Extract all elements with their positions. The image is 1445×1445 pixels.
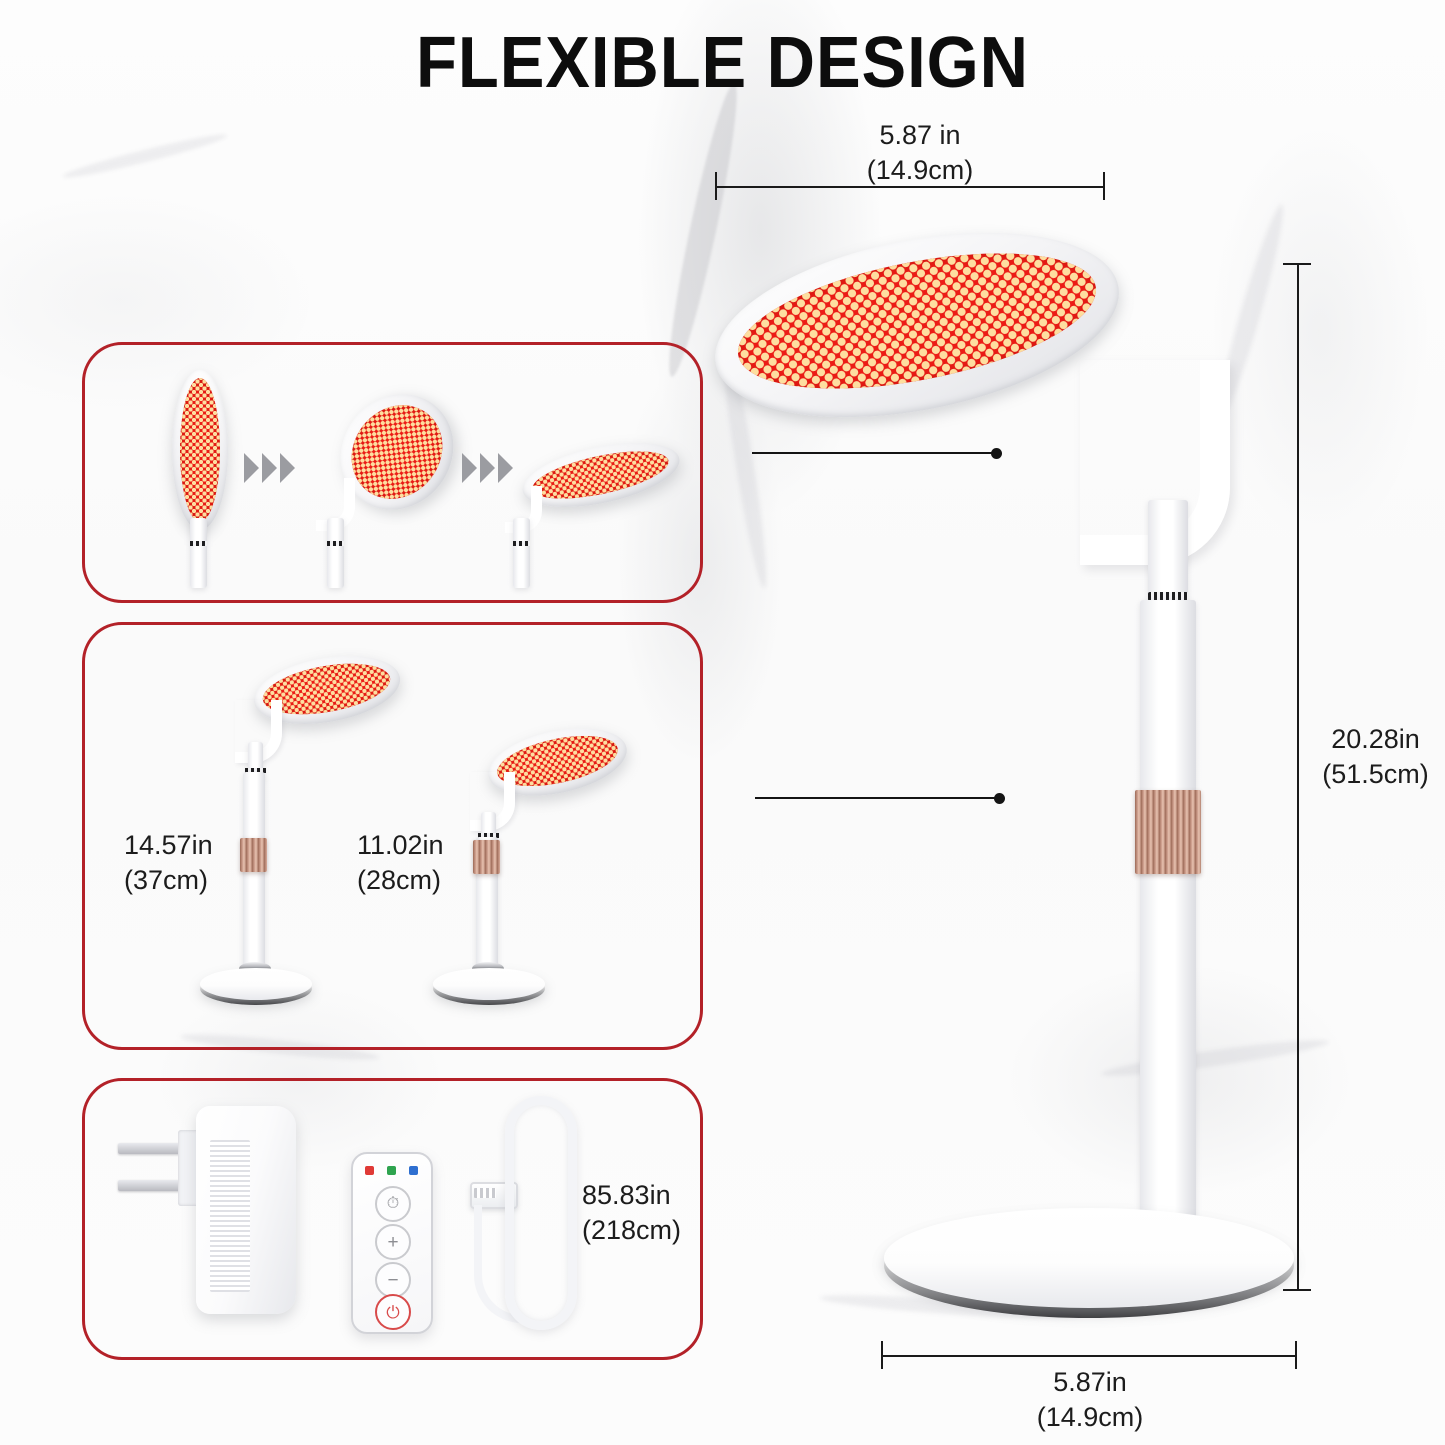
- lamp-base: [433, 968, 545, 1000]
- power-button[interactable]: ⏻: [375, 1294, 411, 1330]
- blue-led: [409, 1166, 418, 1175]
- cable-length-inches: 85.83in: [582, 1178, 752, 1213]
- timer-icon: ⏱: [387, 1196, 399, 1212]
- remote-control[interactable]: ⏱ + − ⏻: [351, 1152, 433, 1334]
- lamp-pole: [327, 518, 344, 588]
- cable-length-dimension: 85.83in (218cm): [582, 1178, 752, 1247]
- cable-length-cm: (218cm): [582, 1213, 752, 1248]
- decrease-button[interactable]: −: [375, 1262, 411, 1298]
- height-short-dimension: 11.02in (28cm): [357, 828, 517, 897]
- usb-coiled-cord: [505, 1096, 577, 1330]
- lamp-pole: [190, 518, 207, 588]
- height-adjust-collar: [1135, 790, 1201, 874]
- lamp-segment-marks: [327, 541, 344, 546]
- height-tall-inches: 14.57in: [124, 828, 284, 863]
- minus-icon: −: [387, 1271, 398, 1290]
- increase-button[interactable]: +: [375, 1224, 411, 1260]
- lamp-head-led-panel: [180, 378, 220, 522]
- usb-connector-tip: [474, 1188, 496, 1198]
- led-dot-array: [180, 378, 220, 522]
- adapter-vents: [210, 1140, 250, 1292]
- chevron-right-icon: [244, 453, 259, 483]
- chevron-right-icon: [480, 453, 495, 483]
- lamp-segment-marks: [513, 541, 530, 546]
- lamp-base: [200, 968, 312, 1000]
- lamp-main-pole: [1140, 600, 1196, 1240]
- lamp-upper-pole: [1148, 500, 1188, 602]
- timer-button[interactable]: ⏱: [375, 1186, 411, 1222]
- power-icon: ⏻: [386, 1304, 399, 1321]
- chevron-right-icon: [280, 453, 295, 483]
- height-short-inches: 11.02in: [357, 828, 517, 863]
- plus-icon: +: [387, 1233, 398, 1252]
- height-tall-dimension: 14.57in (37cm): [124, 828, 284, 897]
- lamp-pole: [513, 518, 530, 588]
- lamp-segment-marks: [190, 541, 207, 546]
- green-led: [387, 1166, 396, 1175]
- height-tall-cm: (37cm): [124, 863, 284, 898]
- lamp-base: [884, 1208, 1294, 1308]
- red-led: [365, 1166, 374, 1175]
- chevron-right-icon: [262, 453, 277, 483]
- chevron-right-icon: [498, 453, 513, 483]
- height-short-cm: (28cm): [357, 863, 517, 898]
- infographic-canvas: FLEXIBLE DESIGN 5.87 in (14.9cm) 20.28in…: [0, 0, 1445, 1445]
- chevron-right-icon: [462, 453, 477, 483]
